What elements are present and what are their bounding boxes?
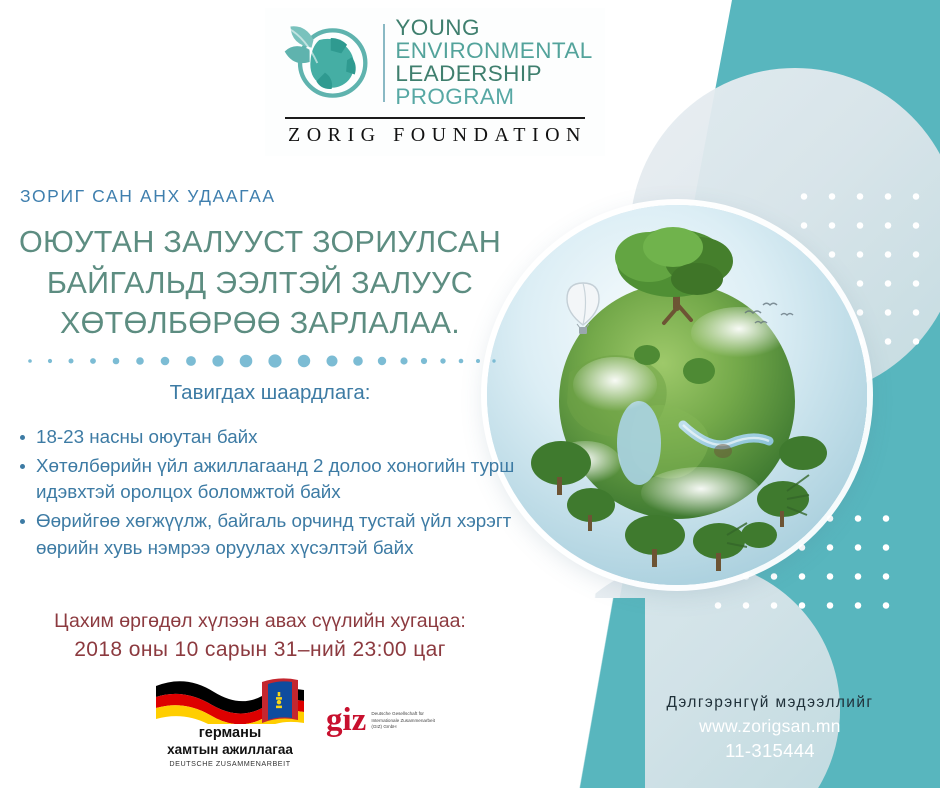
germany-logo-line-3: DEUTSCHE ZUSAMMENARBEIT (169, 759, 290, 768)
contact-block: Дэлгэрэнгүй мэдээллийг www.zorigsan.mn 1… (620, 694, 920, 762)
requirements-list: 18-23 насны оюутан байх Хөтөлбөрийн үйл … (14, 424, 544, 563)
program-logo: YOUNG ENVIRONMENTAL LEADERSHIP PROGRAM Z… (265, 8, 605, 156)
giz-wordmark: giz (326, 706, 366, 736)
eyebrow-text: ЗОРИГ САН АНХ УДААГАА (20, 186, 276, 207)
germany-cooperation-logo: германы хамтын ажиллагаа DEUTSCHE ZUSAMM… (150, 674, 310, 767)
poster-content: YOUNG ENVIRONMENTAL LEADERSHIP PROGRAM Z… (0, 0, 940, 788)
giz-subtitle: Deutsche Gesellschaft für Internationale… (371, 711, 443, 732)
logo-rule (285, 117, 585, 119)
foundation-name: ZORIG FOUNDATION (283, 124, 587, 147)
contact-website[interactable]: www.zorigsan.mn (620, 716, 920, 737)
dotted-separator (22, 352, 508, 370)
page-title: ОЮУТАН ЗАЛУУСТ ЗОРИУЛСАН БАЙГАЛЬД ЭЭЛТЭЙ… (0, 222, 520, 344)
headline-line-3: ХӨТӨЛБӨРӨӨ ЗАРЛАЛАА. (0, 303, 520, 344)
logo-divider (383, 24, 385, 102)
deadline-date: 2018 оны 10 сарын 31–ний 23:00 цаг (0, 635, 520, 665)
list-item: 18-23 насны оюутан байх (14, 424, 544, 451)
germany-logo-line-2: хамтын ажиллагаа (167, 742, 293, 757)
headline-line-1: ОЮУТАН ЗАЛУУСТ ЗОРИУЛСАН (0, 222, 520, 263)
germany-mongolia-flag-icon (150, 674, 310, 724)
logo-line-3: LEADERSHIP (395, 63, 592, 86)
requirements-heading: Тавигдах шаардлага: (0, 381, 540, 405)
germany-logo-line-1: германы (199, 725, 262, 741)
partner-logos: германы хамтын ажиллагаа DEUTSCHE ZUSAMM… (150, 672, 440, 770)
logo-line-1: YOUNG (395, 17, 592, 40)
globe-leaf-icon (277, 15, 373, 111)
poster-canvas: YOUNG ENVIRONMENTAL LEADERSHIP PROGRAM Z… (0, 0, 940, 788)
list-item: Өөрийгөө хөгжүүлж, байгаль орчинд тустай… (14, 508, 544, 561)
logo-line-2: ENVIRONMENTAL (395, 40, 592, 63)
headline-line-2: БАЙГАЛЬД ЭЭЛТЭЙ ЗАЛУУС (0, 263, 520, 304)
contact-label: Дэлгэрэнгүй мэдээллийг (620, 694, 920, 712)
deadline-label: Цахим өргөдөл хүлээн авах сүүлийн хугаца… (0, 607, 520, 635)
list-item: Хөтөлбөрийн үйл ажиллагаанд 2 долоо хоно… (14, 453, 544, 506)
contact-phone[interactable]: 11-315444 (620, 740, 920, 762)
deadline-block: Цахим өргөдөл хүлээн авах сүүлийн хугаца… (0, 607, 520, 666)
logo-line-4: PROGRAM (395, 86, 592, 109)
giz-logo: giz Deutsche Gesellschaft für Internatio… (326, 706, 443, 736)
